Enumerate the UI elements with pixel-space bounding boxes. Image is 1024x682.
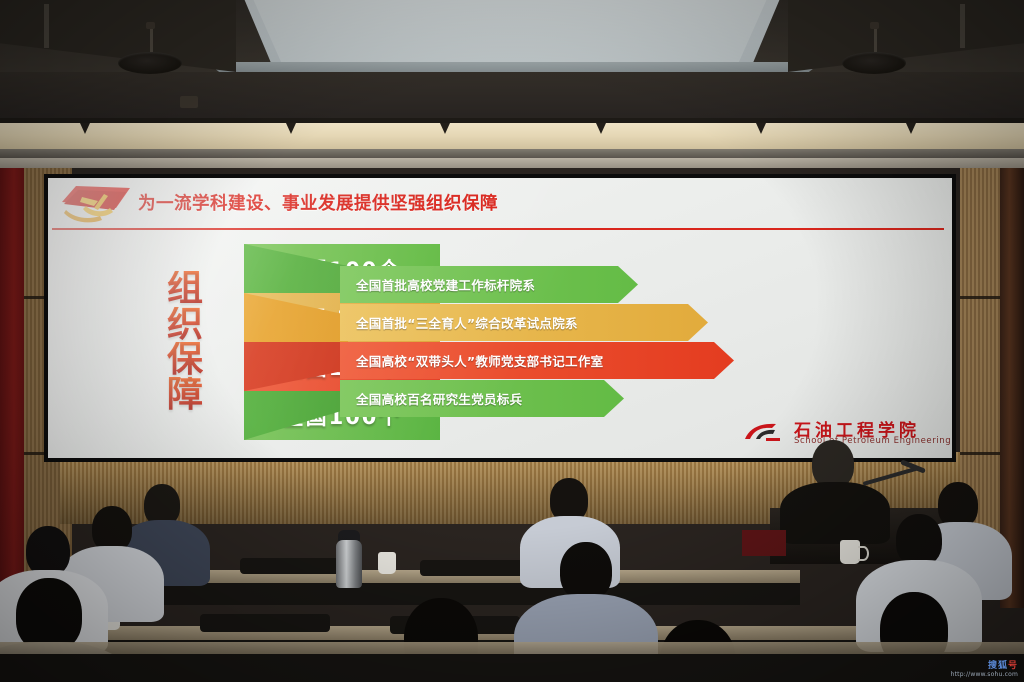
watermark: 搜狐号 http://www.sohu.com bbox=[951, 662, 1018, 678]
watermark-char: 搜 bbox=[988, 661, 998, 671]
front-desk-face bbox=[0, 654, 1024, 682]
cpc-party-emblem-icon bbox=[60, 182, 134, 224]
arrow-shape: 全国高校百名研究生党员标兵 bbox=[340, 380, 624, 417]
arrow-label: 全国首批高校党建工作标杆院系 bbox=[356, 275, 535, 294]
ceiling-fixture-box bbox=[180, 96, 198, 108]
arrow-row: 全国高校百名研究生党员标兵 bbox=[340, 380, 624, 417]
arrow-row: 全国首批“三全育人”综合改革试点院系 bbox=[340, 304, 708, 341]
wood-seam bbox=[960, 296, 1004, 299]
curtain-hook bbox=[440, 123, 450, 134]
ceiling-slot-left bbox=[44, 4, 49, 48]
curtain-hook bbox=[756, 123, 766, 134]
red-folder bbox=[742, 530, 786, 556]
audience-head bbox=[16, 578, 82, 652]
arrow-row: 全国首批高校党建工作标杆院系 bbox=[340, 266, 638, 303]
funnel-segment bbox=[244, 293, 348, 342]
vertical-heading-char: 织 bbox=[167, 307, 203, 342]
ceiling-slot-right bbox=[960, 4, 965, 48]
arrow-label: 全国高校“双带头人”教师党支部书记工作室 bbox=[356, 351, 603, 370]
arrow-shape: 全国高校“双带头人”教师党支部书记工作室 bbox=[340, 342, 734, 379]
vertical-heading-char: 保 bbox=[167, 342, 203, 377]
projection-screen: 为一流学科建设、事业发展提供坚强组织保障 组 织 保 障 全国100个 全 国 … bbox=[48, 178, 952, 458]
vertical-heading-char: 组 bbox=[167, 271, 203, 306]
arrow-label: 全国高校百名研究生党员标兵 bbox=[356, 389, 522, 408]
curtain-hook bbox=[80, 123, 90, 134]
ceiling-speaker-nub-left bbox=[146, 22, 155, 29]
funnel-segment bbox=[244, 342, 348, 391]
foreground-room bbox=[0, 430, 1024, 682]
ceiling-speaker-nub-right bbox=[870, 22, 879, 29]
thermos-flask bbox=[336, 540, 362, 588]
curtain-hook bbox=[286, 123, 296, 134]
ceiling-speaker-left bbox=[118, 52, 182, 74]
audience-head bbox=[560, 542, 612, 600]
presenter-head bbox=[812, 440, 854, 488]
watermark-url: http://www.sohu.com bbox=[951, 672, 1018, 678]
teacup bbox=[840, 540, 860, 564]
chair-back bbox=[200, 614, 330, 632]
arrow-shape: 全国首批“三全育人”综合改革试点院系 bbox=[340, 304, 708, 341]
paper-cup bbox=[378, 552, 396, 574]
curtain-hook bbox=[906, 123, 916, 134]
funnel-segment bbox=[244, 244, 348, 293]
arrow-row: 全国高校“双带头人”教师党支部书记工作室 bbox=[340, 342, 734, 379]
ceiling-speaker-right bbox=[842, 52, 906, 74]
vertical-heading-char: 障 bbox=[167, 377, 203, 412]
title-underline-rule bbox=[52, 228, 944, 230]
ceiling-speaker-stem-right bbox=[874, 26, 877, 52]
curtain-hook bbox=[596, 123, 606, 134]
front-desk-edge bbox=[0, 642, 1024, 654]
slide-title-row: 为一流学科建设、事业发展提供坚强组织保障 bbox=[54, 184, 946, 228]
watermark-char: 号 bbox=[1008, 661, 1018, 671]
ceiling-cove-light bbox=[0, 123, 1024, 151]
ceiling-speaker-stem-left bbox=[150, 26, 153, 52]
presenter-body bbox=[780, 482, 890, 544]
arrow-shape: 全国首批高校党建工作标杆院系 bbox=[340, 266, 638, 303]
teacup-handle bbox=[858, 546, 869, 561]
arrow-list: 全国首批高校党建工作标杆院系 全国首批“三全育人”综合改革试点院系 全国高校“双… bbox=[340, 266, 940, 418]
photo-scene: 为一流学科建设、事业发展提供坚强组织保障 组 织 保 障 全国100个 全 国 … bbox=[0, 0, 1024, 682]
ceiling-lower-band bbox=[0, 72, 1024, 124]
watermark-char: 狐 bbox=[998, 661, 1008, 671]
vertical-heading: 组 织 保 障 bbox=[156, 250, 214, 434]
funnel-taper bbox=[244, 244, 348, 440]
slide-title: 为一流学科建设、事业发展提供坚强组织保障 bbox=[138, 190, 498, 215]
microphone-arm bbox=[863, 466, 920, 486]
audience-head bbox=[26, 526, 70, 576]
arrow-label: 全国首批“三全育人”综合改革试点院系 bbox=[356, 313, 578, 332]
desk-row-3-front bbox=[160, 583, 800, 605]
audience-head bbox=[896, 514, 942, 566]
